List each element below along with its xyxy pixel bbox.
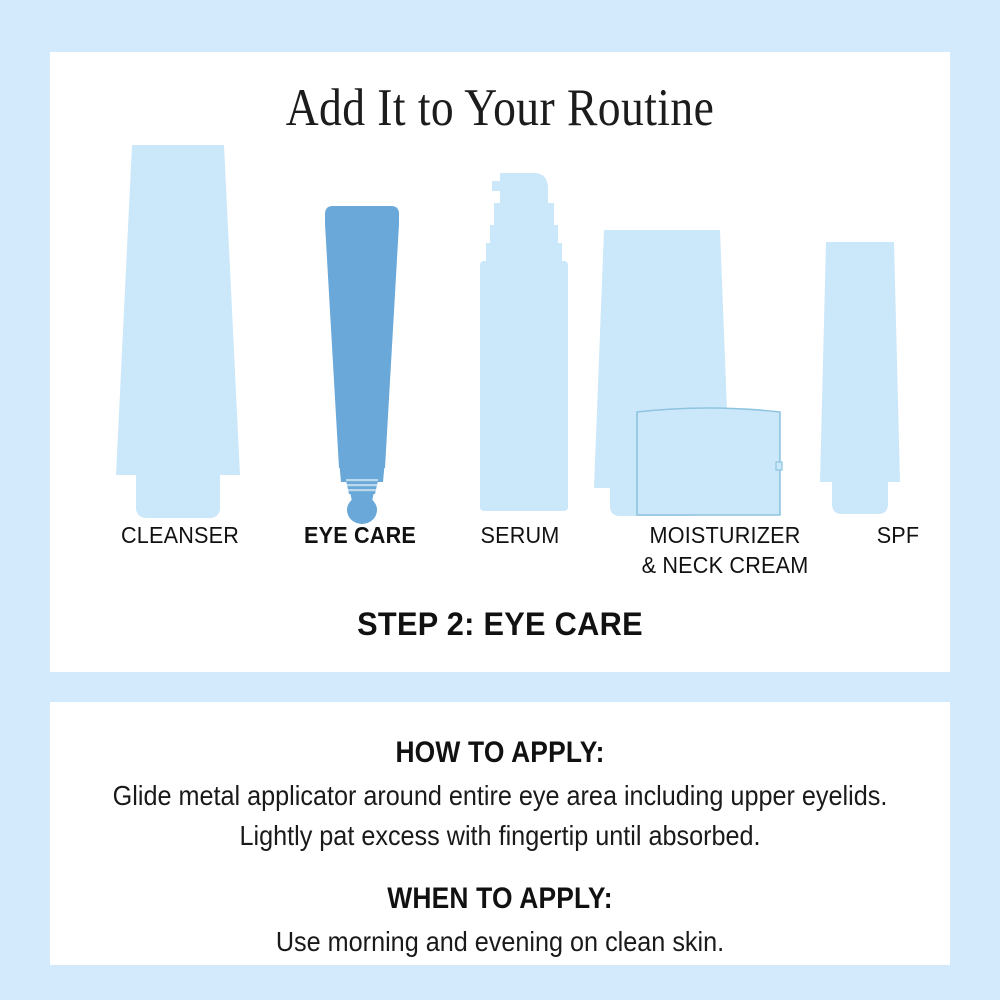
cleanser-tube-icon [98, 145, 258, 520]
product-labels: CLEANSER EYE CARE SERUM MOISTURIZER & NE… [70, 520, 930, 590]
product-moisturizer [590, 230, 800, 520]
product-label-moisturizer-line2: & NECK CREAM [589, 550, 862, 580]
how-to-apply-heading: HOW TO APPLY: [104, 736, 896, 770]
routine-infographic: Add It to Your Routine [0, 0, 1000, 1000]
product-cleanser [98, 145, 258, 520]
product-serum [470, 165, 580, 520]
instructions-block: HOW TO APPLY: Glide metal applicator aro… [50, 702, 950, 965]
how-to-apply-block: HOW TO APPLY: Glide metal applicator aro… [50, 736, 950, 856]
spf-tube-icon [810, 242, 910, 520]
when-to-apply-body: Use morning and evening on clean skin. [104, 922, 896, 962]
eye-care-tube-icon [307, 198, 417, 528]
product-label-spf: SPF [795, 520, 1000, 550]
page-title: Add It to Your Routine [70, 78, 930, 138]
step-heading: STEP 2: EYE CARE [20, 606, 980, 643]
how-to-apply-body: Glide metal applicator around entire eye… [104, 776, 896, 856]
serum-pump-bottle-icon [470, 165, 580, 520]
product-spf [810, 242, 910, 520]
product-label-serum: SERUM [435, 520, 604, 550]
product-eye-care[interactable] [307, 198, 417, 528]
product-row [70, 140, 930, 520]
when-to-apply-heading: WHEN TO APPLY: [104, 882, 896, 916]
moisturizer-tube-and-jar-icon [590, 230, 800, 520]
product-label-eye-care: EYE CARE [275, 520, 444, 550]
when-to-apply-block: WHEN TO APPLY: Use morning and evening o… [50, 882, 950, 962]
product-label-cleanser: CLEANSER [77, 520, 284, 550]
